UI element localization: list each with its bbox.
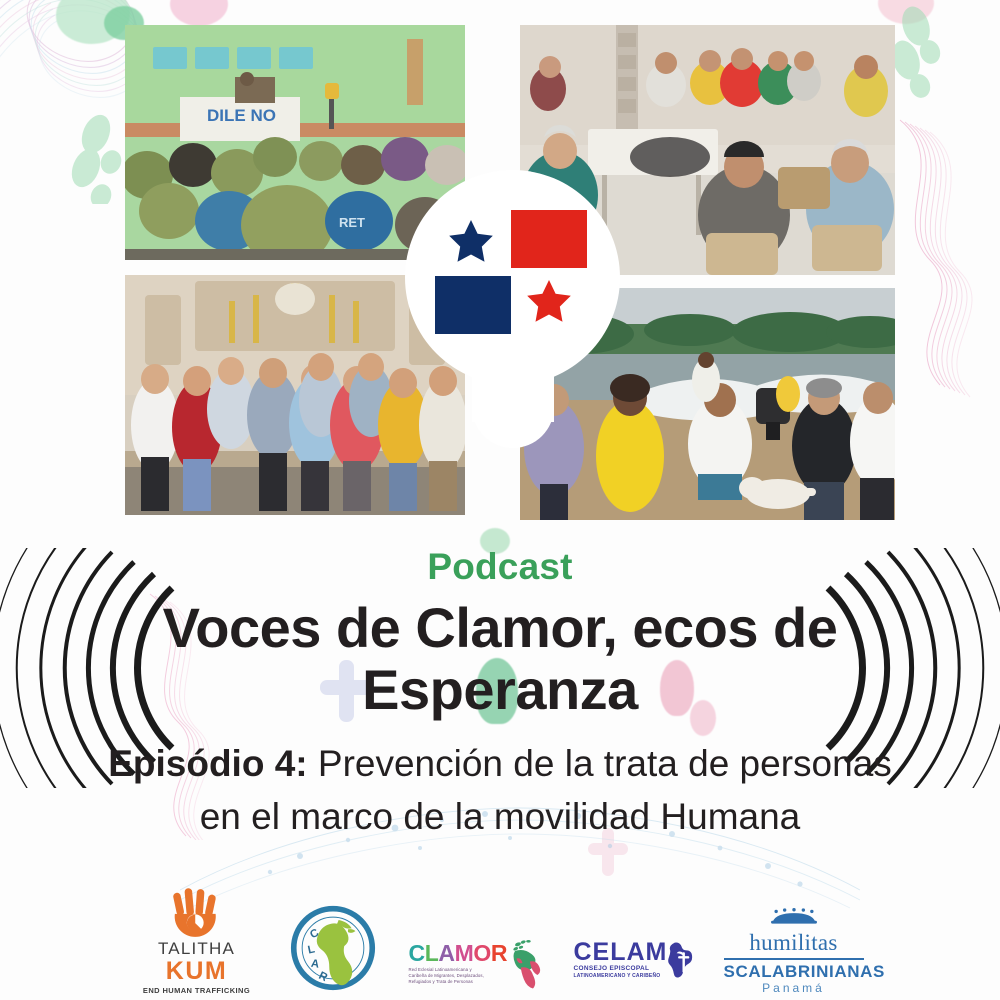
partner-logo-row: TALITHA KUM END HUMAN TRAFFICKING C L A … [0,892,1000,996]
clamor-letter-r: R [491,940,507,966]
talitha-kum-line2: KUM [137,958,257,985]
clamor-sub-line3: Refugiados y Trata de Personas [409,979,508,985]
logo-clamor: CLAMOR Red Eclesial Latinoamericana y Ca… [409,930,544,996]
logo-humilitas: humilitas SCALABRINIANAS Panamá [724,908,864,996]
swirl-right-icon [880,110,1000,400]
logo-clar: C L A R [287,905,379,996]
clamor-letter-a: A [438,940,454,966]
episode-line: Episódio 4: Prevención de la trata de pe… [40,737,960,843]
celam-sub-line2: LATINOAMERICANO Y CARIBEÑO [574,973,668,980]
clamor-letter-o: O [473,940,491,966]
poster-text-block: Podcast Voces de Clamor, ecos de Esperan… [0,545,1000,843]
flag-quadrant-red [511,210,587,268]
svg-text:L: L [306,943,315,956]
photo-collage: DILE NO RET [120,20,890,520]
flag-star-red [527,280,571,322]
episode-prefix: Episódio 4: [108,743,307,784]
svg-text:RET: RET [339,215,365,230]
svg-text:DILE NO: DILE NO [207,106,276,125]
clar-globe-icon: C L A R [290,905,376,991]
blob-green-top-left [56,0,130,44]
podcast-poster: DILE NO RET [0,0,1000,1000]
humilitas-wordmark: humilitas [724,930,864,956]
flag-star-blue [449,220,493,262]
episode-text-line1: Prevención de la trata de personas [308,743,892,784]
flag-badge-circle [405,170,620,385]
humilitas-line3: Panamá [724,981,864,996]
logo-talitha-kum: TALITHA KUM END HUMAN TRAFFICKING [137,887,257,996]
talitha-kum-line1: TALITHA [137,939,257,958]
svg-text:A: A [310,958,320,971]
celam-map-cross-icon [668,924,693,996]
panama-flag [435,210,587,334]
talitha-kum-hand-icon [137,887,257,939]
clamor-letter-l: L [425,940,439,966]
logo-celam: CELAM CONSEJO EPISCOPAL LATINOAMERICANO … [574,924,694,996]
episode-text-line2: en el marco de la movilidad Humana [200,796,801,837]
clamor-letter-m: M [455,940,474,966]
clamor-letter-c: C [409,940,425,966]
humilitas-divider [724,958,864,960]
clamor-map-icon [509,930,543,996]
clamor-subtitle: Red Eclesial Latinoamericana y Caribeña … [409,967,508,985]
clamor-wordmark: CLAMOR [409,941,508,965]
flag-quadrant-blue [435,276,511,334]
celam-sub-line1: CONSEJO EPISCOPAL [574,965,668,973]
podcast-title: Voces de Clamor, ecos de Esperanza [85,597,915,721]
humilitas-crown-icon [764,908,824,925]
talitha-kum-tagline: END HUMAN TRAFFICKING [137,985,257,996]
podcast-label: Podcast [0,545,1000,589]
photo-awareness-talk: DILE NO RET [125,25,465,260]
humilitas-line2: SCALABRINIANAS [724,962,864,981]
celam-wordmark: CELAM [574,940,668,965]
